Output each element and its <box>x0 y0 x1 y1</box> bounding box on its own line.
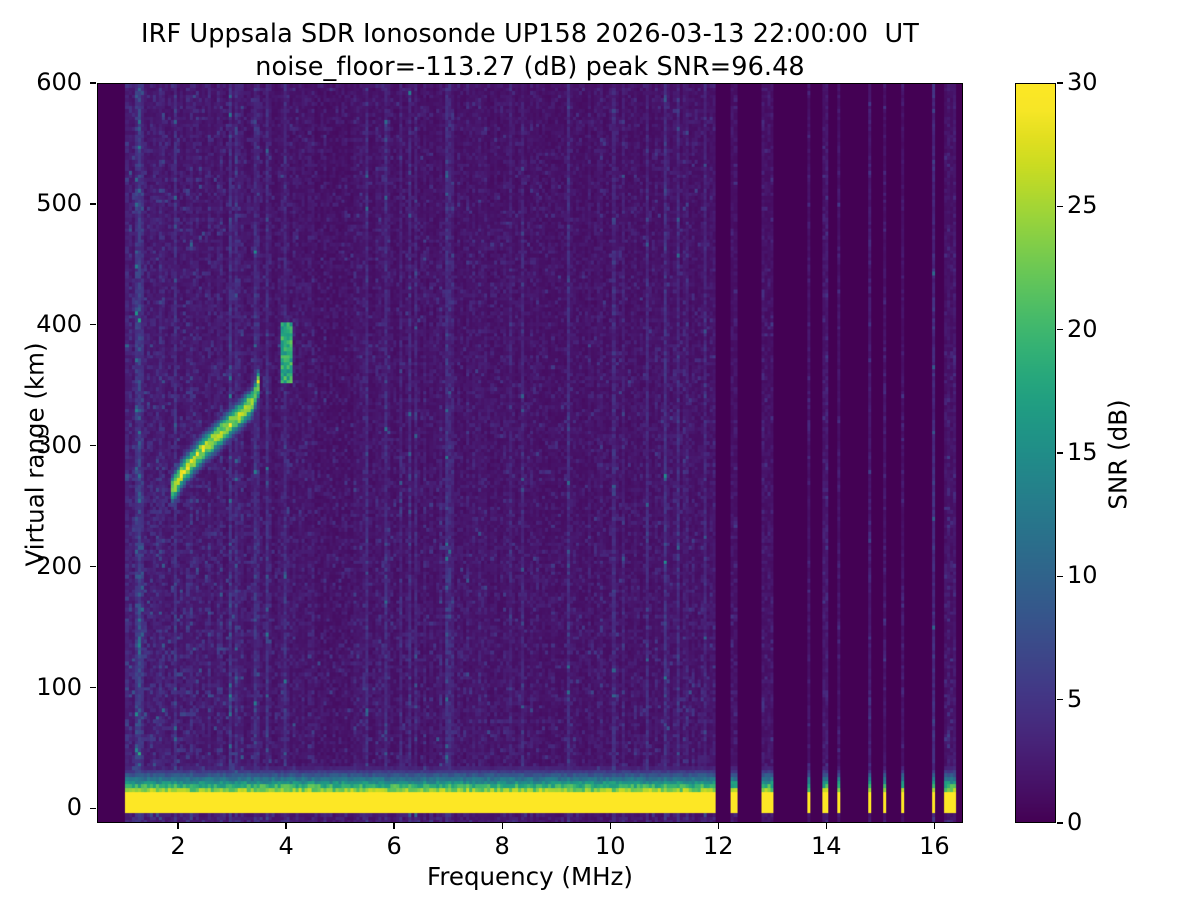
colorbar-tick <box>1057 82 1063 83</box>
colorbar-tick <box>1057 329 1063 330</box>
colorbar <box>1015 83 1056 823</box>
x-axis-tick <box>610 823 611 829</box>
ionogram-plot-area <box>97 83 963 823</box>
y-axis-tick <box>90 808 96 809</box>
x-axis-tick <box>502 823 503 829</box>
ionogram-heatmap <box>98 84 962 822</box>
y-axis-tick <box>90 203 96 204</box>
colorbar-tick-label: 10 <box>1067 561 1127 589</box>
x-axis-tick <box>393 823 394 829</box>
y-axis-tick <box>90 566 96 567</box>
colorbar-tick <box>1057 822 1063 823</box>
colorbar-tick-label: 25 <box>1067 191 1127 219</box>
x-axis-tick-label: 6 <box>359 832 429 860</box>
x-axis-tick <box>177 823 178 829</box>
x-axis-tick-label: 2 <box>143 832 213 860</box>
title-line-2: noise_floor=-113.27 (dB) peak SNR=96.48 <box>0 51 1060 84</box>
y-axis-tick <box>90 687 96 688</box>
y-axis-tick-label: 300 <box>12 431 82 459</box>
y-axis-tick-label: 100 <box>12 673 82 701</box>
colorbar-gradient <box>1016 84 1055 822</box>
colorbar-tick-label: 15 <box>1067 438 1127 466</box>
y-axis-tick <box>90 324 96 325</box>
colorbar-tick <box>1057 452 1063 453</box>
y-axis-tick-label: 400 <box>12 310 82 338</box>
x-axis-tick <box>285 823 286 829</box>
colorbar-tick-label: 30 <box>1067 68 1127 96</box>
x-axis-tick-label: 8 <box>467 832 537 860</box>
y-axis-tick <box>90 82 96 83</box>
colorbar-tick-label: 20 <box>1067 315 1127 343</box>
colorbar-tick <box>1057 206 1063 207</box>
x-axis-tick <box>826 823 827 829</box>
x-axis-tick-label: 14 <box>791 832 861 860</box>
x-axis-tick-label: 12 <box>683 832 753 860</box>
colorbar-tick <box>1057 699 1063 700</box>
colorbar-tick-label: 5 <box>1067 685 1127 713</box>
colorbar-tick-label: 0 <box>1067 808 1127 836</box>
x-axis-label: Frequency (MHz) <box>97 862 963 891</box>
x-axis-tick <box>934 823 935 829</box>
y-axis-tick-label: 0 <box>12 793 82 821</box>
y-axis-tick-label: 200 <box>12 552 82 580</box>
colorbar-tick <box>1057 576 1063 577</box>
title-line-1: IRF Uppsala SDR Ionosonde UP158 2026-03-… <box>0 18 1060 51</box>
x-axis-tick-label: 10 <box>575 832 645 860</box>
y-axis-tick-label: 600 <box>12 68 82 96</box>
x-axis-tick-label: 4 <box>251 832 321 860</box>
y-axis-tick <box>90 445 96 446</box>
x-axis-tick-label: 16 <box>899 832 969 860</box>
ionogram-figure: IRF Uppsala SDR Ionosonde UP158 2026-03-… <box>0 0 1200 900</box>
x-axis-tick <box>718 823 719 829</box>
y-axis-tick-label: 500 <box>12 189 82 217</box>
figure-title: IRF Uppsala SDR Ionosonde UP158 2026-03-… <box>0 18 1060 84</box>
